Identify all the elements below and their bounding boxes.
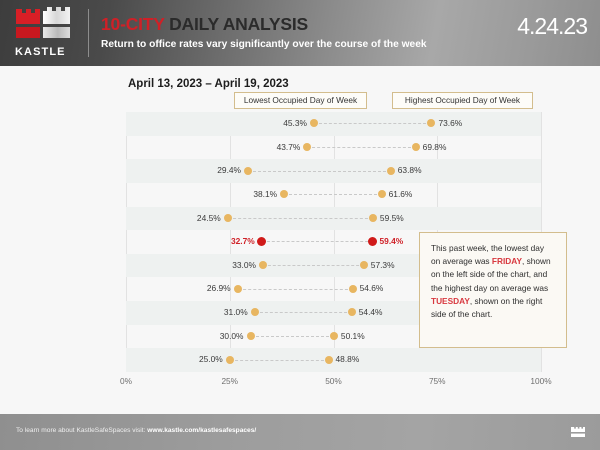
value-label-high: 50.1%	[334, 325, 365, 349]
x-axis: 0%25%50%75%100%	[126, 372, 541, 394]
x-axis-tick-label: 75%	[429, 376, 446, 386]
footer-note-text: To learn more about KastleSafeSpaces vis…	[16, 427, 147, 434]
page-subtitle: Return to office rates vary significantl…	[101, 39, 427, 50]
chart-row: Dallas metro38.1%61.6%	[126, 183, 541, 207]
value-label-high: 59.5%	[373, 207, 404, 231]
range-connector	[251, 336, 334, 337]
x-axis-tick-label: 0%	[120, 376, 132, 386]
range-connector	[255, 312, 352, 313]
value-label-high: 63.8%	[391, 159, 422, 183]
page-header: KASTLE 10-CITY DAILY ANALYSIS Return to …	[0, 0, 600, 66]
range-connector	[228, 218, 373, 219]
value-label-low: 32.7%	[231, 230, 262, 254]
value-label-low: 26.9%	[207, 277, 238, 301]
value-label-high: 73.6%	[431, 112, 462, 136]
chart-row: Houston metro43.7%69.8%	[126, 136, 541, 160]
page-title: 10-CITY DAILY ANALYSIS	[101, 14, 308, 35]
range-connector	[248, 171, 391, 172]
footer-link[interactable]: www.kastle.com/kastlesafespaces/	[147, 427, 256, 434]
annotation-callout: This past week, the lowest day on averag…	[419, 232, 567, 348]
legend-lowest-day: Lowest Occupied Day of Week	[234, 92, 367, 109]
value-label-low: 25.0%	[199, 348, 230, 372]
report-date: 4.24.23	[517, 13, 587, 40]
value-label-high: 59.4%	[373, 230, 404, 254]
value-label-high: 61.6%	[382, 183, 413, 207]
page-title-accent: 10-CITY	[101, 14, 164, 34]
value-label-high: 48.8%	[329, 348, 360, 372]
chart-row: New York metro24.5%59.5%	[126, 207, 541, 231]
value-label-high: 57.3%	[364, 254, 395, 278]
x-axis-tick-label: 100%	[530, 376, 551, 386]
range-connector	[307, 147, 415, 148]
chart-region: April 13, 2023 – April 19, 2023 Lowest O…	[0, 66, 600, 414]
chart-row: Chicago metro29.4%63.8%	[126, 159, 541, 183]
value-label-high: 54.4%	[352, 301, 383, 325]
chart-row: Austin metro45.3%73.6%	[126, 112, 541, 136]
value-label-low: 38.1%	[253, 183, 284, 207]
chart-row: San Jose metro25.0%48.8%	[126, 348, 541, 372]
value-label-high: 69.8%	[416, 136, 447, 160]
value-label-low: 31.0%	[224, 301, 255, 325]
range-connector	[284, 194, 382, 195]
kastle-castle-mark-icon	[570, 424, 586, 439]
page-footer: To learn more about KastleSafeSpaces vis…	[0, 414, 600, 450]
value-label-high: 54.6%	[353, 277, 384, 301]
range-connector	[262, 241, 373, 242]
range-connector	[263, 265, 364, 266]
value-label-low: 29.4%	[217, 159, 248, 183]
header-divider	[88, 9, 89, 57]
x-axis-tick-label: 50%	[325, 376, 342, 386]
value-label-low: 24.5%	[197, 207, 228, 231]
footer-note: To learn more about KastleSafeSpaces vis…	[16, 427, 256, 434]
range-connector	[238, 289, 353, 290]
value-label-low: 43.7%	[277, 136, 308, 160]
chart-date-range: April 13, 2023 – April 19, 2023	[128, 78, 289, 90]
annotation-highest-day: TUESDAY	[431, 296, 470, 306]
range-connector	[314, 123, 431, 124]
poster-root: KASTLE 10-CITY DAILY ANALYSIS Return to …	[0, 0, 600, 450]
page-title-rest: DAILY ANALYSIS	[164, 14, 308, 34]
x-axis-tick-label: 25%	[221, 376, 238, 386]
kastle-castle-logo-icon	[14, 7, 76, 45]
range-connector	[230, 360, 329, 361]
value-label-low: 33.0%	[232, 254, 263, 278]
annotation-lowest-day: FRIDAY	[492, 256, 522, 266]
value-label-low: 30.0%	[220, 325, 251, 349]
value-label-low: 45.3%	[283, 112, 314, 136]
legend-highest-day: Highest Occupied Day of Week	[392, 92, 533, 109]
brand-logo: KASTLE	[14, 7, 78, 61]
brand-wordmark: KASTLE	[15, 46, 66, 58]
